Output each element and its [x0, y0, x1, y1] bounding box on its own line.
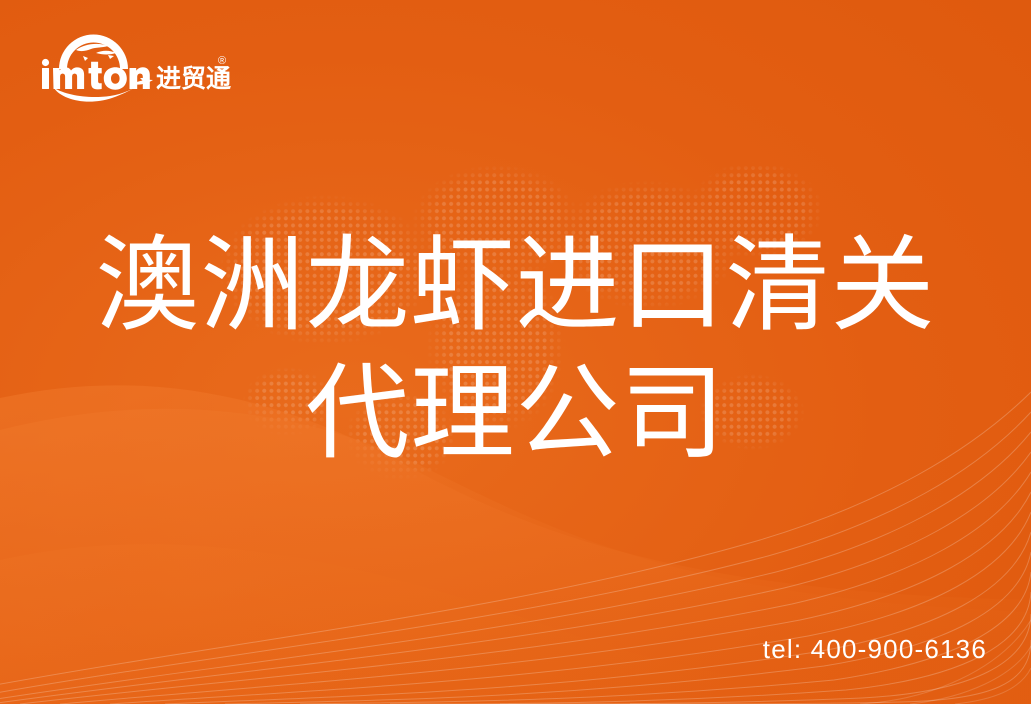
headline-line-2: 代理公司 — [0, 350, 1031, 478]
headline-line-1: 澳洲龙虾进口清关 — [0, 222, 1031, 350]
logo-chinese-text: 进贸通 — [156, 65, 231, 93]
registered-trademark-icon: ® — [218, 55, 226, 67]
headline: 澳洲龙虾进口清关 代理公司 — [0, 222, 1031, 478]
brand-logo[interactable]: 进贸通 ® — [36, 28, 236, 102]
logo-wordmark — [42, 59, 150, 90]
contact-phone[interactable]: tel: 400-900-6136 — [763, 634, 987, 665]
promo-banner: 进贸通 ® 澳洲龙虾进口清关 代理公司 tel: 400-900-6136 — [0, 0, 1031, 704]
